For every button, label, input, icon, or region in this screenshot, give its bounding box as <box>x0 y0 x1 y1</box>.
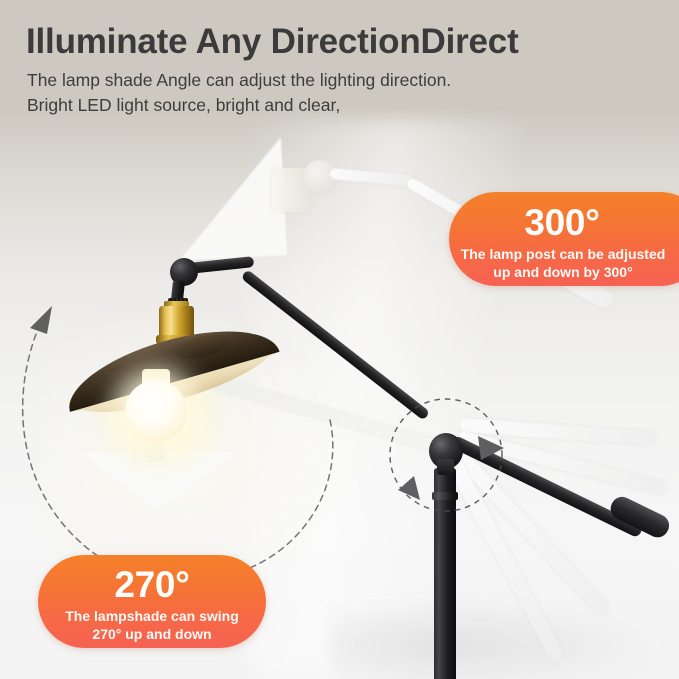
ghost-counterweight-arm-3 <box>447 442 612 618</box>
badge-300-description-line-2: up and down by 300° <box>449 264 679 282</box>
ghost-joint-upper <box>303 160 337 194</box>
badge-300-degrees: 300° The lamp post can be adjusted up an… <box>449 192 679 286</box>
ghost-counterweight-arm-1 <box>460 418 656 446</box>
subtitle-line-1: The lamp shade Angle can adjust the ligh… <box>27 70 451 91</box>
counterweight-arm <box>449 435 643 539</box>
pivot-cap <box>437 459 454 475</box>
badge-270-description-line-2: 270° up and down <box>38 626 266 644</box>
page-title: Illuminate Any DirectionDirect <box>26 22 519 62</box>
badge-300-description-line-1: The lamp post can be adjusted <box>449 246 679 264</box>
pole-collar <box>432 492 458 500</box>
ghost-lamp-shade-upper <box>173 137 287 260</box>
ghost-arm-upper-horizontal <box>330 168 415 186</box>
badge-270-description-line-1: The lampshade can swing <box>38 608 266 626</box>
badge-270-value: 270° <box>38 566 266 603</box>
badge-300-value: 300° <box>449 204 679 241</box>
badge-270-degrees: 270° The lampshade can swing 270° up and… <box>38 555 266 648</box>
ghost-socket-upper <box>272 168 310 212</box>
product-infographic: Illuminate Any DirectionDirect The lamp … <box>0 0 679 679</box>
floor-shadow <box>330 600 660 679</box>
pivot-arrow-down-icon <box>398 476 420 500</box>
subtitle-line-2: Bright LED light source, bright and clea… <box>27 95 340 116</box>
led-bulb <box>125 380 187 442</box>
swing-arrow-icon <box>30 306 52 334</box>
